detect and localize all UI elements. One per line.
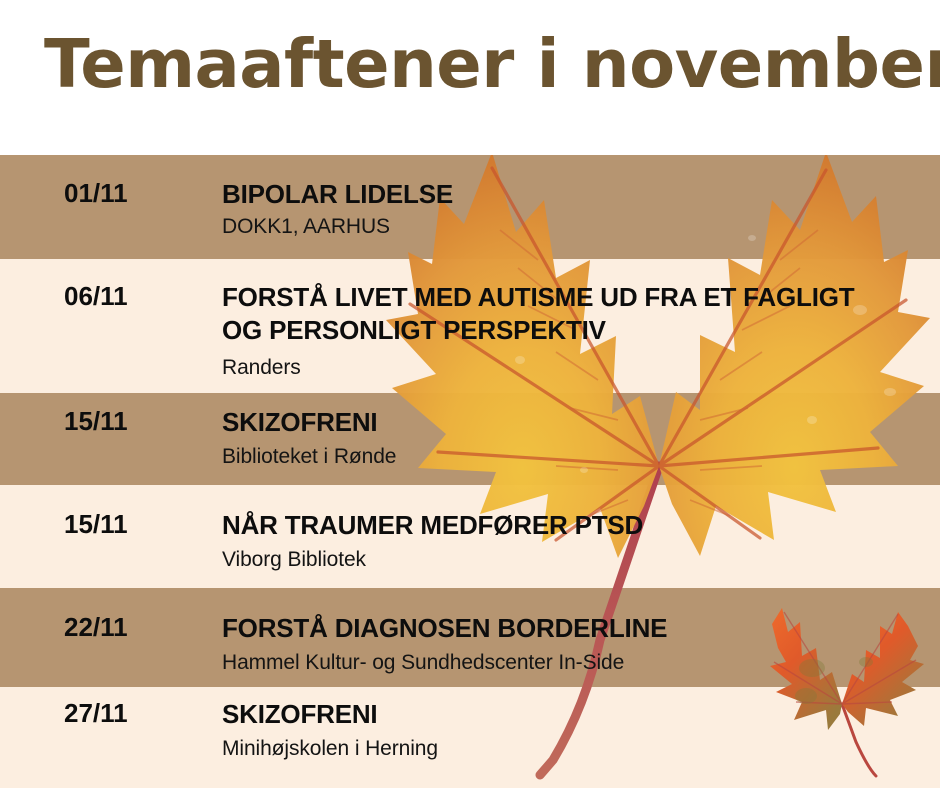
event-venue: Minihøjskolen i Herning <box>222 735 922 762</box>
event-title: BIPOLAR LIDELSE <box>222 178 922 211</box>
event-venue: Hammel Kultur- og Sundhedscenter In-Side <box>222 649 922 676</box>
event-body: BIPOLAR LIDELSE DOKK1, AARHUS <box>222 178 922 241</box>
event-body: FORSTÅ LIVET MED AUTISME UD FRA ET FAGLI… <box>222 281 882 381</box>
event-body: SKIZOFRENI Minihøjskolen i Herning <box>222 698 922 763</box>
event-venue: Randers <box>222 354 882 381</box>
event-body: NÅR TRAUMER MEDFØRER PTSD Viborg Bibliot… <box>222 509 922 574</box>
event-title: FORSTÅ LIVET MED AUTISME UD FRA ET FAGLI… <box>222 281 882 348</box>
event-date: 15/11 <box>64 406 128 437</box>
event-title: SKIZOFRENI <box>222 406 922 439</box>
event-title: NÅR TRAUMER MEDFØRER PTSD <box>222 509 922 542</box>
event-body: FORSTÅ DIAGNOSEN BORDERLINE Hammel Kultu… <box>222 612 922 677</box>
event-title: FORSTÅ DIAGNOSEN BORDERLINE <box>222 612 922 645</box>
event-date: 22/11 <box>64 612 128 643</box>
event-body: SKIZOFRENI Biblioteket i Rønde <box>222 406 922 471</box>
event-venue: DOKK1, AARHUS <box>222 213 922 240</box>
event-title: SKIZOFRENI <box>222 698 922 731</box>
event-list: 01/11 BIPOLAR LIDELSE DOKK1, AARHUS 06/1… <box>0 0 940 788</box>
event-venue: Viborg Bibliotek <box>222 546 922 573</box>
event-venue: Biblioteket i Rønde <box>222 443 922 470</box>
event-date: 01/11 <box>64 178 128 209</box>
event-date: 15/11 <box>64 509 128 540</box>
event-date: 06/11 <box>64 281 128 312</box>
event-date: 27/11 <box>64 698 128 729</box>
poster-canvas: Temaaftener i november 01/11 BIPOLAR LID… <box>0 0 940 788</box>
